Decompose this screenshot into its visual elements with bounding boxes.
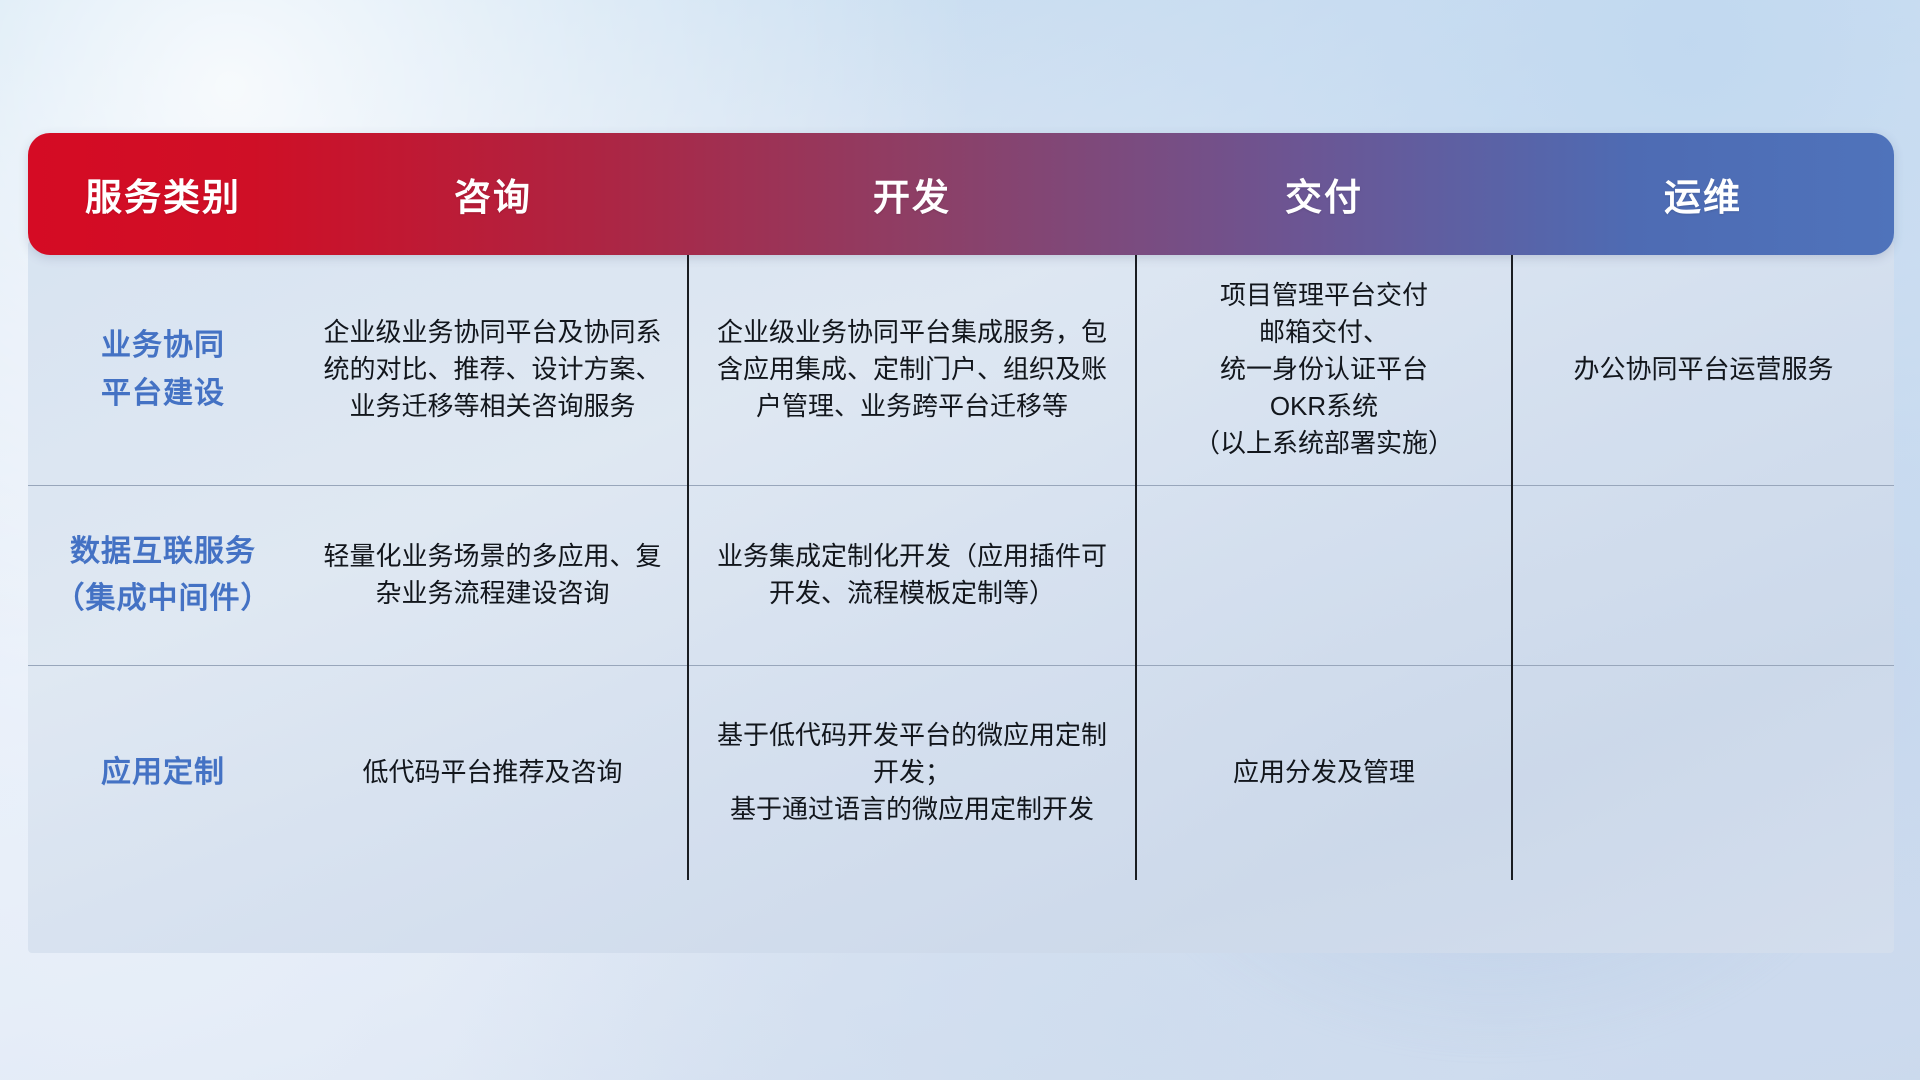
cell-delivery-row2 [1136,485,1512,665]
delivery-line: （以上系统部署实施） [1153,425,1495,462]
category-line: 应用定制 [44,749,282,796]
row-category-data-integration: 数据互联服务 （集成中间件） [28,485,298,665]
delivery-line: 项目管理平台交付 [1153,277,1495,314]
service-matrix-table: 服务类别 咨询 开发 交付 运维 业务协同 平台建设 企业级业务协同平台及协同系… [28,133,1894,953]
cell-consulting-row2: 轻量化业务场景的多应用、复杂业务流程建设咨询 [298,485,688,665]
development-line: 基于低代码开发平台的微应用定制开发； [705,717,1119,791]
cell-operations-row3 [1512,665,1894,880]
cell-consulting-row3: 低代码平台推荐及咨询 [298,665,688,880]
row-category-collaboration-platform: 业务协同 平台建设 [28,255,298,485]
column-header-operations: 运维 [1512,133,1894,255]
cell-delivery-row3: 应用分发及管理 [1136,665,1512,880]
cell-development-row3: 基于低代码开发平台的微应用定制开发； 基于通过语言的微应用定制开发 [688,665,1136,880]
table-header-row: 服务类别 咨询 开发 交付 运维 [28,133,1894,255]
cell-operations-row2 [1512,485,1894,665]
cell-development-row2: 业务集成定制化开发（应用插件可开发、流程模板定制等） [688,485,1136,665]
development-line: 基于通过语言的微应用定制开发 [705,791,1119,828]
delivery-line: OKR系统 [1153,388,1495,425]
category-line: 数据互联服务 [44,528,282,575]
category-line: 平台建设 [44,370,282,417]
category-line: 业务协同 [44,322,282,369]
cell-operations-row1: 办公协同平台运营服务 [1512,255,1894,485]
category-line: （集成中间件） [44,575,282,622]
row-category-app-customization: 应用定制 [28,665,298,880]
column-header-consulting: 咨询 [298,133,688,255]
column-header-development: 开发 [688,133,1136,255]
delivery-line: 邮箱交付、 [1153,314,1495,351]
cell-consulting-row1: 企业级业务协同平台及协同系统的对比、推荐、设计方案、业务迁移等相关咨询服务 [298,255,688,485]
column-header-delivery: 交付 [1136,133,1512,255]
table-row: 数据互联服务 （集成中间件） 轻量化业务场景的多应用、复杂业务流程建设咨询 业务… [28,485,1894,665]
cell-development-row1: 企业级业务协同平台集成服务，包含应用集成、定制门户、组织及账户管理、业务跨平台迁… [688,255,1136,485]
table-row: 业务协同 平台建设 企业级业务协同平台及协同系统的对比、推荐、设计方案、业务迁移… [28,255,1894,485]
column-header-service-category: 服务类别 [28,133,298,255]
cell-delivery-row1: 项目管理平台交付 邮箱交付、 统一身份认证平台 OKR系统 （以上系统部署实施） [1136,255,1512,485]
table-row: 应用定制 低代码平台推荐及咨询 基于低代码开发平台的微应用定制开发； 基于通过语… [28,665,1894,880]
delivery-line: 统一身份认证平台 [1153,351,1495,388]
